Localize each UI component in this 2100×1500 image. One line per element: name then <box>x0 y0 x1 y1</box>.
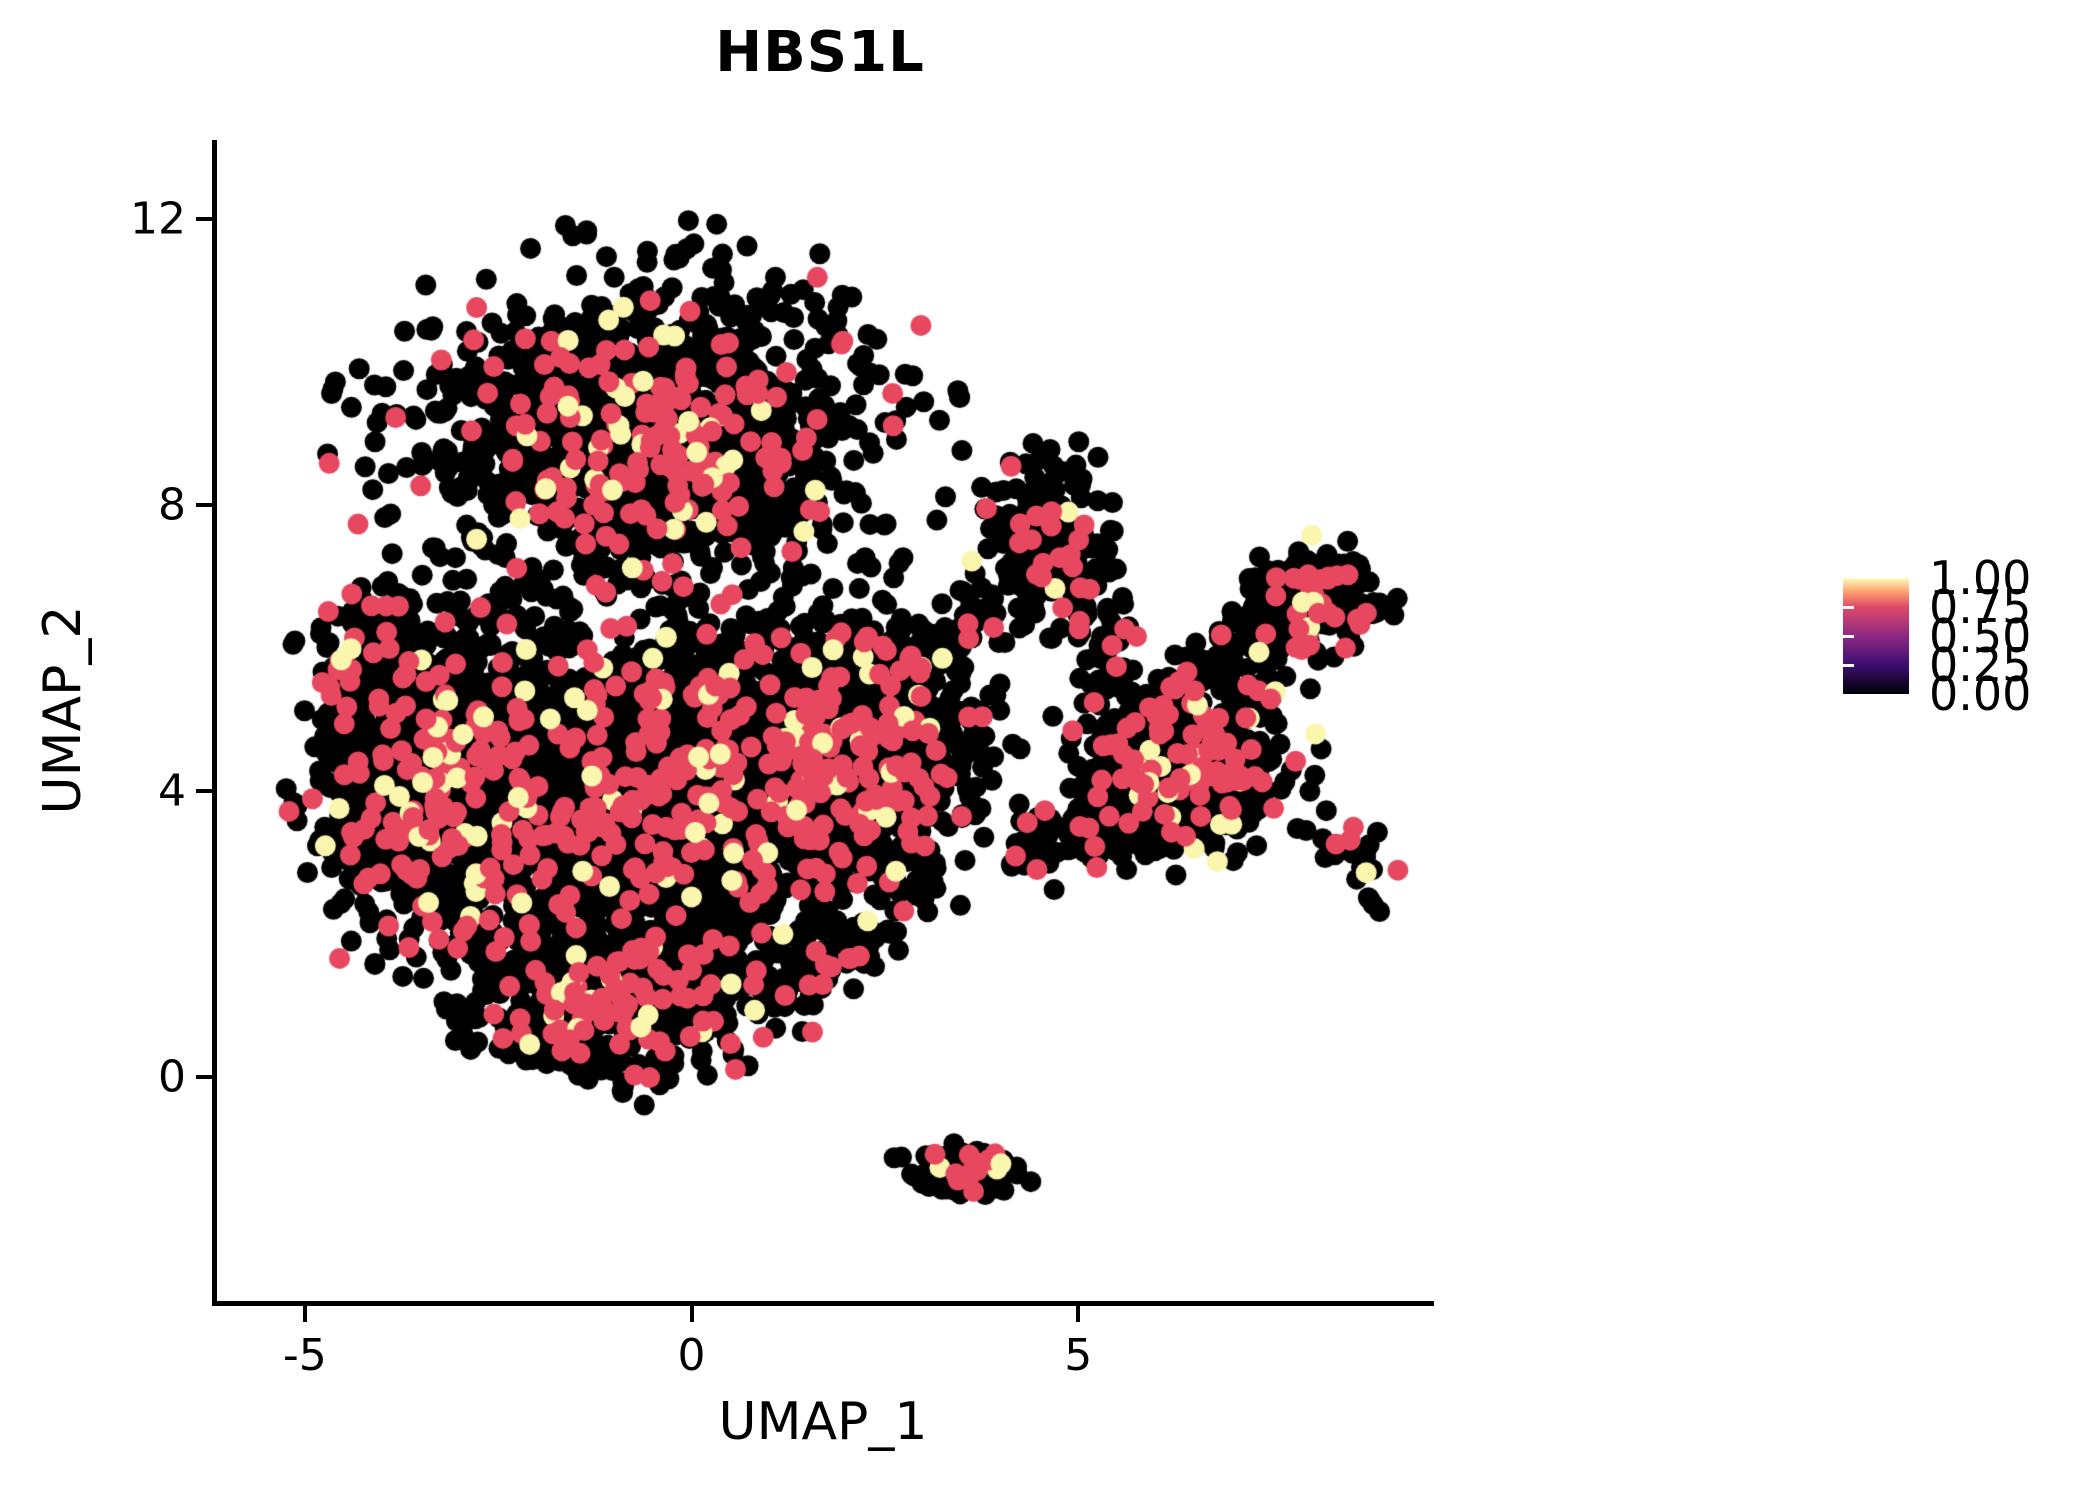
y-tick-mark <box>196 503 212 507</box>
colorbar-legend: 1.000.750.500.250.00 <box>1843 578 2093 694</box>
x-tick-label: -5 <box>283 1330 327 1381</box>
y-tick-mark <box>196 217 212 221</box>
colorbar-tick-mark <box>2082 606 2093 609</box>
x-tick-mark <box>303 1306 307 1322</box>
colorbar-tick-mark <box>1843 635 1854 638</box>
x-tick-mark <box>1076 1306 1080 1322</box>
colorbar-tick-mark <box>1843 606 1854 609</box>
y-tick-label: 8 <box>158 479 186 530</box>
y-tick-label: 12 <box>130 193 186 244</box>
y-tick-mark <box>196 1075 212 1079</box>
x-tick-mark <box>690 1306 694 1322</box>
x-tick-label: 0 <box>678 1330 706 1381</box>
y-tick-mark <box>196 789 212 793</box>
x-tick-label: 5 <box>1064 1330 1092 1381</box>
scatter-points-layer <box>212 140 1434 1306</box>
y-tick-label: 4 <box>158 765 186 816</box>
umap-feature-plot-figure: HBS1L 04812 -505 UMAP_1 UMAP_2 1.000.750… <box>0 0 2100 1500</box>
colorbar-tick-label: 0.00 <box>1929 667 2031 721</box>
colorbar-tick-mark <box>1843 664 1854 667</box>
page-title: HBS1L <box>0 20 1640 85</box>
colorbar-tick-mark <box>2082 635 2093 638</box>
y-axis-label: UMAP_2 <box>33 127 93 1293</box>
plot-axes: 04812 -505 <box>212 140 1434 1306</box>
x-axis-label: UMAP_1 <box>212 1392 1434 1452</box>
colorbar-tick-mark <box>2082 664 2093 667</box>
y-tick-label: 0 <box>158 1052 186 1103</box>
